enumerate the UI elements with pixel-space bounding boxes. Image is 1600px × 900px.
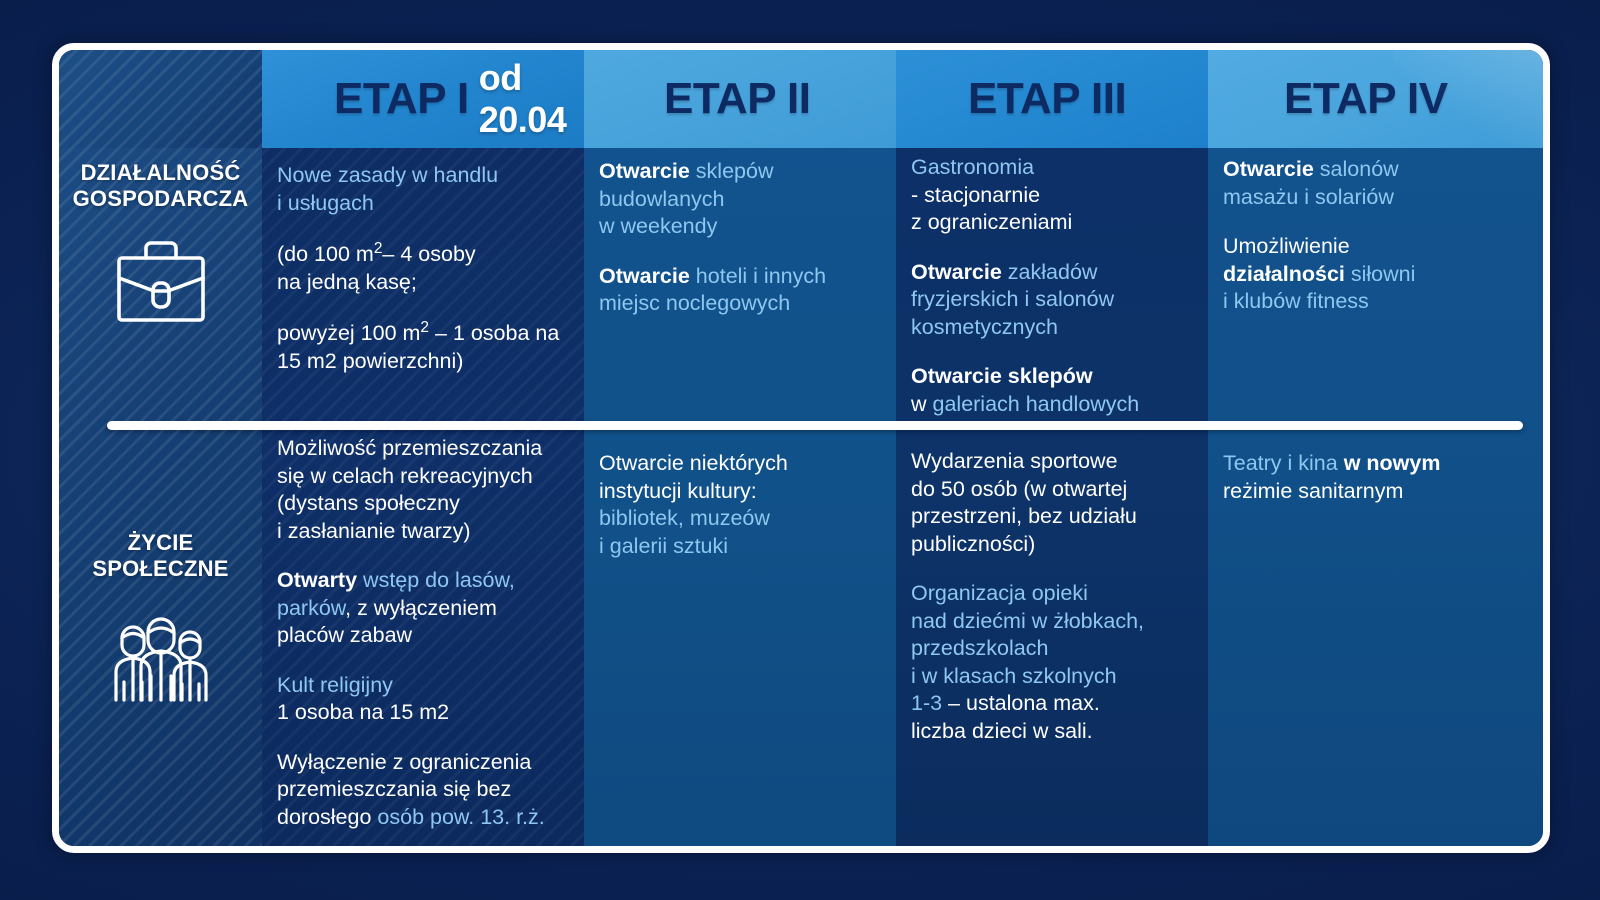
text-block: Otwarcie hoteli i innych miejsc noclegow… [599,263,891,318]
text-line: przestrzeni, bez udziału [911,504,1137,528]
cell-row2-stage1: Możliwość przemieszczania się w celach r… [277,435,592,831]
text-block: Możliwość przemieszczania się w celach r… [277,435,592,545]
text-line: reżimie sanitarnym [1223,479,1403,503]
cell-row1-stage2: Otwarcie sklepów budowlanych w weekendy … [599,158,891,318]
text-line: Otwarcie niektórych [599,451,788,475]
text-line: – 4 osoby [382,242,475,266]
text-line: , z wyłączeniem [345,596,497,620]
superscript: 2 [420,319,429,336]
text-block: Kult religijny 1 osoba na 15 m2 [277,672,592,727]
sidebar-row-1-line-2: GOSPODARCZA [73,186,249,212]
text-line: Otwarty [277,568,357,592]
cell-row2-stage3: Wydarzenia sportowe do 50 osób (w otwart… [911,448,1203,745]
header-cell-stage-2[interactable]: ETAP II [584,50,896,148]
cell-row1-stage4: Otwarcie salonów masażu i solariów Umożl… [1223,156,1533,316]
text-line: fryzjerskich i salonów [911,287,1114,311]
text-block: powyżej 100 m2 – 1 osoba na 15 m2 powier… [277,318,589,375]
text-block: Otwarcie sklepów w galeriach handlowych [911,363,1203,418]
infographic-frame: ETAP I od 20.04 ETAP II ETAP III ETAP IV [52,43,1550,853]
text-line: nad dziećmi w żłobkach, [911,609,1144,633]
text-block: Otwarcie zakładów fryzjerskich i salonów… [911,259,1203,342]
stage-3-title: ETAP III [896,74,1126,124]
text-line: i galerii sztuki [599,534,728,558]
text-line: i zasłanianie twarzy) [277,519,471,543]
text-line: siłowni [1345,262,1416,286]
sidebar-row-2-label: ŻYCIE SPOŁECZNE [92,530,228,582]
text-line: przedszkolach [911,636,1048,660]
sidebar-row-2-line-1: ŻYCIE [92,530,228,556]
header-cell-stage-3[interactable]: ETAP III [896,50,1208,148]
stage-1-date: od 20.04 [479,57,584,141]
header-cell-sidebar [59,50,262,148]
text-line: (do 100 m [277,242,374,266]
stage-4-title: ETAP IV [1208,74,1448,124]
text-line: działalności [1223,262,1345,286]
text-line: i usługach [277,191,374,215]
text-block: Otwarcie niektórych instytucji kultury: … [599,450,891,560]
stage-1-title: ETAP I [262,74,469,124]
text-line: Gastronomia [911,155,1034,179]
cell-row2-stage2: Otwarcie niektórych instytucji kultury: … [599,450,891,560]
text-line: i klubów fitness [1223,289,1369,313]
header-cell-stage-4[interactable]: ETAP IV [1208,50,1543,148]
sidebar-item-dzialalnosc-gospodarcza: DZIAŁALNOŚĆ GOSPODARCZA [59,160,262,331]
cell-row2-stage4: Teatry i kina w nowym reżimie sanitarnym [1223,450,1533,505]
text-line: Otwarcie [1223,157,1314,181]
text-line: z ograniczeniami [911,210,1072,234]
text-block: Umożliwienie działalności siłowni i klub… [1223,233,1533,316]
text-line: dorosłego [277,805,377,829]
text-block: Otwarcie salonów masażu i solariów [1223,156,1533,211]
sidebar-item-zycie-spoleczne: ŻYCIE SPOŁECZNE [59,530,262,709]
stage-2-title: ETAP II [584,74,810,124]
text-block: (do 100 m2– 4 osoby na jedną kasę; [277,239,589,296]
text-line: parków [277,596,345,620]
text-block: Nowe zasady w handlu i usługach [277,162,589,217]
text-line: hoteli i innych [690,264,826,288]
text-line: – ustalona max. [942,691,1100,715]
text-line: galeriach handlowych [933,392,1140,416]
text-line: 1 osoba na 15 m2 [277,700,449,724]
text-line: Wydarzenia sportowe [911,449,1118,473]
text-line: 15 m2 powierzchni) [277,349,463,373]
text-line: i w klasach szkolnych [911,664,1117,688]
text-line: Teatry i kina [1223,451,1338,475]
text-line: w nowym [1338,451,1441,475]
text-line: salonów [1314,157,1399,181]
text-line: Otwarcie [911,260,1002,284]
text-block: Wydarzenia sportowe do 50 osób (w otwart… [911,448,1203,558]
text-line: wstęp do lasów, [357,568,515,592]
text-line: Otwarcie [599,264,690,288]
infographic-root: ETAP I od 20.04 ETAP II ETAP III ETAP IV [0,0,1600,900]
text-line: na jedną kasę; [277,270,417,294]
cell-row1-stage3: Gastronomia - stacjonarnie z ograniczeni… [911,154,1203,418]
text-line: zakładów [1002,260,1098,284]
text-line: kosmetycznych [911,315,1058,339]
sidebar-row-1-line-1: DZIAŁALNOŚĆ [73,160,249,186]
text-line: (dystans społeczny [277,491,460,515]
text-line: - stacjonarnie [911,183,1040,207]
text-line: w [911,392,933,416]
text-line: Otwarcie [599,159,690,183]
text-line: liczba dzieci w sali. [911,719,1093,743]
text-line: powyżej 100 m [277,321,420,345]
text-line: masażu i solariów [1223,185,1394,209]
cell-row1-stage1: Nowe zasady w handlu i usługach (do 100 … [277,162,589,375]
stage-header-row: ETAP I od 20.04 ETAP II ETAP III ETAP IV [59,50,1543,148]
text-line: Wyłączenie z ograniczenia [277,750,531,774]
people-group-icon [96,604,226,709]
text-line: osób pow. 13. r.ż. [377,805,544,829]
text-line: – 1 osoba na [429,321,559,345]
text-block: Teatry i kina w nowym reżimie sanitarnym [1223,450,1533,505]
text-line: Otwarcie sklepów [911,364,1093,388]
text-block: Otwarty wstęp do lasów, parków, z wyłącz… [277,567,592,650]
text-line: bibliotek, muzeów [599,506,770,530]
briefcase-icon [108,234,214,331]
text-line: Umożliwienie [1223,234,1350,258]
text-block: Organizacja opieki nad dziećmi w żłobkac… [911,580,1203,745]
text-block: Wyłączenie z ograniczenia przemieszczani… [277,749,592,832]
stage-grid: ETAP I od 20.04 ETAP II ETAP III ETAP IV [59,50,1543,846]
row-divider [107,421,1523,430]
text-line: instytucji kultury: [599,479,757,503]
text-line: do 50 osób (w otwartej [911,477,1127,501]
text-line: budowlanych [599,187,725,211]
text-line: w weekendy [599,214,717,238]
text-line: Organizacja opieki [911,581,1088,605]
text-line: placów zabaw [277,623,412,647]
sidebar-row-2-line-2: SPOŁECZNE [92,556,228,582]
text-block: Otwarcie sklepów budowlanych w weekendy [599,158,891,241]
text-line: przemieszczania się bez [277,777,511,801]
text-line: Możliwość przemieszczania [277,436,542,460]
sidebar-row-1-label: DZIAŁALNOŚĆ GOSPODARCZA [73,160,249,212]
text-block: Gastronomia - stacjonarnie z ograniczeni… [911,154,1203,237]
text-line: sklepów [690,159,774,183]
text-line: 1-3 [911,691,942,715]
text-line: się w celach rekreacyjnych [277,464,533,488]
text-line: publiczności) [911,532,1035,556]
text-line: Nowe zasady w handlu [277,163,498,187]
text-line: Kult religijny [277,673,393,697]
header-cell-stage-1[interactable]: ETAP I od 20.04 [262,50,584,148]
text-line: miejsc noclegowych [599,291,790,315]
